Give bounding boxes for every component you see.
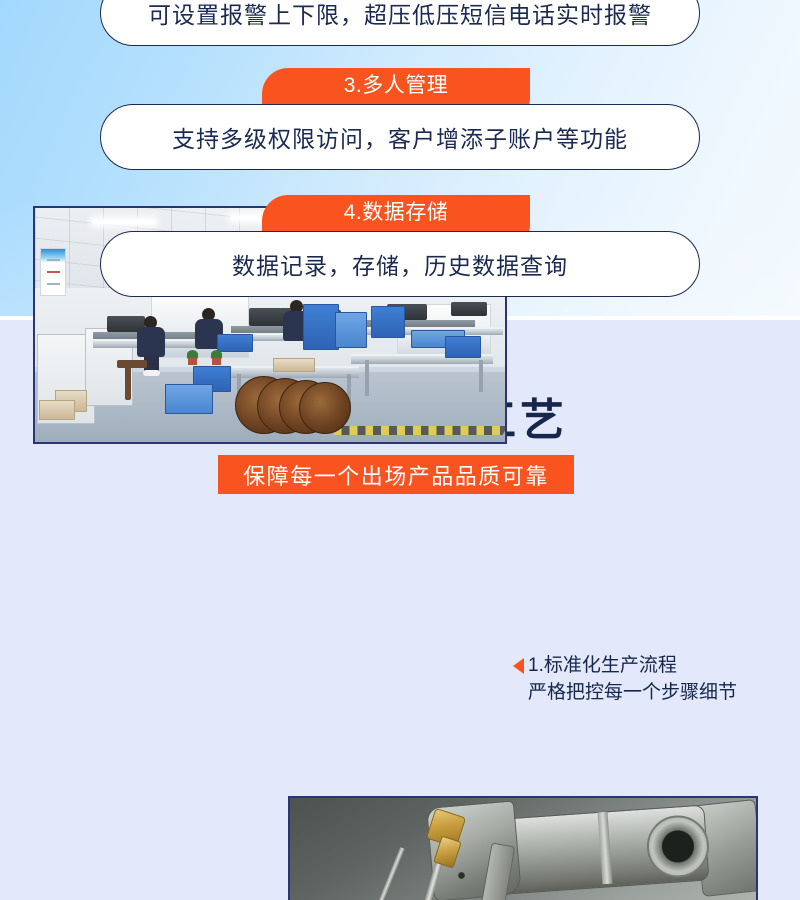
photo-plant-pot <box>212 358 221 365</box>
feature-tab-label: 4.数据存储 <box>344 195 449 228</box>
features-section: 2.报警管理 可设置报警上下限，超压低压短信电话实时报警 3.多人管理 支持多级… <box>0 0 800 316</box>
ceiling-light <box>93 220 155 224</box>
valve-photo <box>288 796 758 900</box>
photo-parts-bin <box>217 334 253 352</box>
photo-parts-bin <box>445 336 481 358</box>
caption-line-2: 严格把控每一个步骤细节 <box>513 679 783 707</box>
feature-card: 支持多级权限访问，客户增添子账户等功能 <box>100 104 700 170</box>
flange-bolt-hole <box>458 872 465 879</box>
feature-description: 数据记录，存储，历史数据查询 <box>232 247 568 281</box>
photo-parts-bin <box>335 312 367 348</box>
photo-chair <box>125 366 131 400</box>
photo-equipment <box>451 302 487 316</box>
photo-floor-hazard-stripe <box>333 426 507 435</box>
triangle-left-icon <box>513 658 524 674</box>
product-detail-page: 2.报警管理 可设置报警上下限，超压低压短信电话实时报警 3.多人管理 支持多级… <box>0 0 800 900</box>
section-subtitle-banner: 保障每一个出场产品品质可靠 <box>218 455 574 494</box>
photo-wall-poster <box>40 248 66 296</box>
feature-tab-label: 3.多人管理 <box>344 68 449 101</box>
photo-bench-leg <box>365 360 369 396</box>
photo-plant-pot <box>188 358 197 365</box>
photo-parts-bin <box>165 384 213 414</box>
caption-line-1: 1.标准化生产流程 <box>528 652 677 679</box>
photo-bench-leg <box>479 360 483 392</box>
photo-chair <box>117 360 147 368</box>
feature-card: 数据记录，存储，历史数据查询 <box>100 231 700 297</box>
feature-card: 可设置报警上下限，超压低压短信电话实时报警 <box>100 0 700 46</box>
photo-carton <box>273 358 315 372</box>
feature-description: 可设置报警上下限，超压低压短信电话实时报警 <box>148 0 652 30</box>
photo-parts-bin <box>303 304 339 350</box>
feature-description: 支持多级权限访问，客户增添子账户等功能 <box>172 120 628 154</box>
photo-caption: 1.标准化生产流程 严格把控每一个步骤细节 <box>513 652 783 707</box>
section-subtitle-text: 保障每一个出场产品品质可靠 <box>243 459 549 491</box>
photo-cable-spool <box>299 382 351 434</box>
valve-rod <box>377 847 405 900</box>
photo-parts-bin <box>371 306 405 338</box>
photo-carton <box>39 400 75 420</box>
